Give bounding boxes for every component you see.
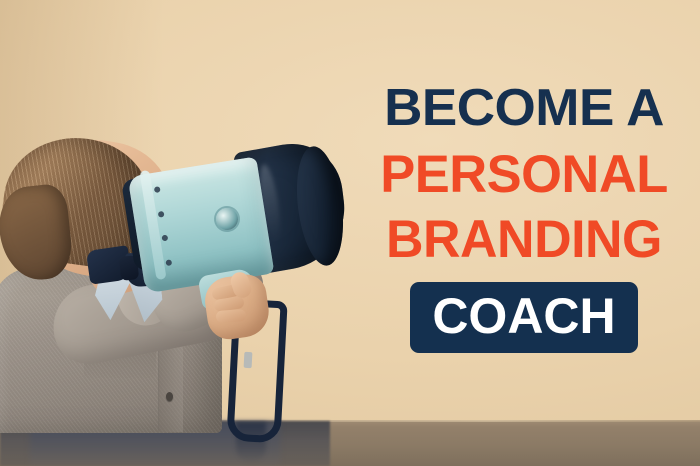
megaphone-strap-clip xyxy=(244,352,253,368)
headline-line-personal: PERSONAL xyxy=(370,148,679,201)
megaphone xyxy=(0,0,360,466)
promo-banner: BECOME A PERSONAL BRANDING COACH xyxy=(0,0,700,466)
headline-block: BECOME A PERSONAL BRANDING COACH xyxy=(368,82,680,353)
boy-finger xyxy=(216,309,247,323)
headline-badge-coach: COACH xyxy=(410,282,637,353)
headline-line-branding: BRANDING xyxy=(371,213,677,266)
headline-line-become: BECOME A xyxy=(365,82,683,134)
